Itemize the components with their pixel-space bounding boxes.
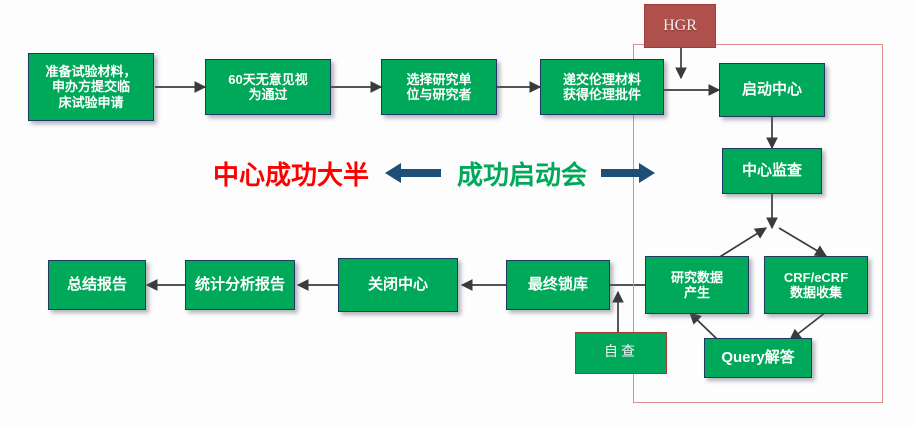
- node-summary-report[interactable]: 总结报告: [48, 260, 146, 310]
- banner-left-text: 中心成功大半: [213, 155, 369, 192]
- node-center-monitoring[interactable]: 中心监查: [722, 148, 822, 194]
- node-hgr[interactable]: HGR: [644, 4, 716, 48]
- node-query-resolution[interactable]: Query解答: [704, 338, 812, 378]
- flowchart-canvas: 准备试验材料， 申办方提交临 床试验申请 60天无意见视 为通过 选择研究单 位…: [0, 0, 916, 428]
- node-study-data-generation[interactable]: 研究数据 产生: [645, 256, 749, 314]
- banner-row: 中心成功大半 成功启动会: [213, 152, 657, 194]
- node-statistical-analysis-report[interactable]: 统计分析报告: [185, 260, 295, 310]
- right-thick-arrow-icon: [601, 160, 657, 186]
- node-ethics-approval[interactable]: 递交伦理材料 获得伦理批件: [540, 59, 664, 115]
- node-final-database-lock[interactable]: 最终锁库: [506, 260, 610, 310]
- node-prepare-materials[interactable]: 准备试验材料， 申办方提交临 床试验申请: [28, 53, 154, 121]
- node-select-site-investigator[interactable]: 选择研究单 位与研究者: [381, 59, 497, 115]
- node-start-center[interactable]: 启动中心: [719, 63, 825, 117]
- node-close-center[interactable]: 关闭中心: [338, 258, 458, 312]
- node-sixty-days-no-objection[interactable]: 60天无意见视 为通过: [205, 59, 331, 115]
- banner-middle-text: 成功启动会: [457, 155, 587, 192]
- left-thick-arrow-icon: [383, 160, 443, 186]
- node-crf-ecrf-collection[interactable]: CRF/eCRF 数据收集: [764, 256, 868, 314]
- node-self-inspection[interactable]: 自查: [575, 332, 667, 374]
